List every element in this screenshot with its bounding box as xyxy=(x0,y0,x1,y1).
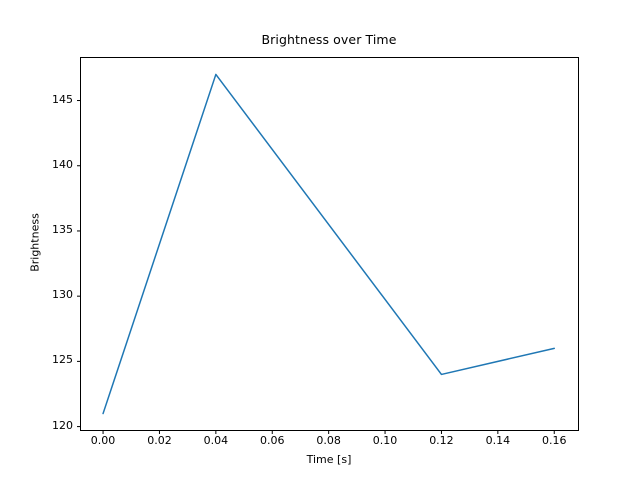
line-series-brightness xyxy=(103,74,554,413)
matplotlib-figure: Brightness over Time Brightness Time [s]… xyxy=(0,0,640,480)
x-tick-label: 0.16 xyxy=(524,434,584,447)
x-tick-label: 0.14 xyxy=(468,434,528,447)
y-tick-label: 140 xyxy=(33,158,73,171)
y-tick-label: 125 xyxy=(33,353,73,366)
x-tick-label: 0.08 xyxy=(299,434,359,447)
axes-spines xyxy=(81,58,579,431)
x-tick-label: 0.12 xyxy=(411,434,471,447)
x-tick-label: 0.02 xyxy=(129,434,189,447)
y-tick-marks xyxy=(77,101,81,427)
x-tick-label: 0.06 xyxy=(242,434,302,447)
x-tick-label: 0.10 xyxy=(355,434,415,447)
plot-area xyxy=(0,0,640,480)
data-series-group xyxy=(103,74,554,413)
y-tick-label: 135 xyxy=(33,223,73,236)
y-tick-label: 130 xyxy=(33,288,73,301)
x-tick-label: 0.04 xyxy=(186,434,246,447)
axes-frame xyxy=(81,58,579,431)
x-tick-label: 0.00 xyxy=(73,434,133,447)
y-tick-label: 120 xyxy=(33,419,73,432)
y-tick-label: 145 xyxy=(33,93,73,106)
